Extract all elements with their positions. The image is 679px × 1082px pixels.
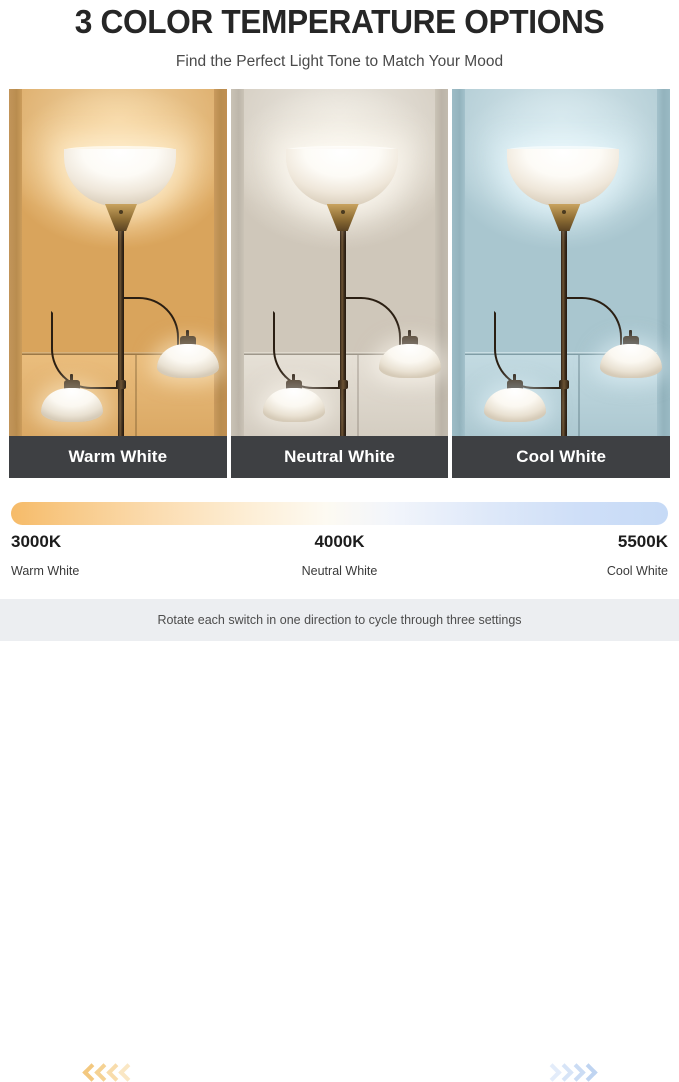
lamp-switch-knob-upper[interactable] [559, 380, 569, 389]
wall-edge-right [214, 89, 227, 477]
panel-label-row: Warm White Neutral White Cool White [9, 436, 670, 478]
warm-direction-arrows [84, 1065, 132, 1082]
reading-lamp-shade-left [41, 388, 103, 422]
lamp-panel-warm-white[interactable] [9, 89, 227, 477]
reading-lamp-shade-left [263, 388, 325, 422]
kelvin-name-row: Warm White Neutral White Cool White [0, 562, 679, 582]
lamp-switch-knob-upper[interactable] [338, 380, 348, 389]
torchiere-screw [341, 210, 345, 214]
room-scene-warm [9, 89, 227, 477]
reading-lamp-arm-left [494, 311, 566, 389]
lamp-panel-neutral-white[interactable] [231, 89, 449, 477]
header: 3 COLOR TEMPERATURE OPTIONS Find the Per… [0, 0, 679, 73]
page-title: 3 COLOR TEMPERATURE OPTIONS [14, 2, 666, 42]
chevron-left-icon [108, 1065, 119, 1082]
color-temperature-gradient-bar [11, 502, 668, 525]
reading-lamp-arm-left [273, 311, 345, 389]
torchiere-screw [119, 210, 123, 214]
footer-note-bar: Rotate each switch in one direction to c… [0, 599, 679, 641]
kelvin-value-neutral: 4000K [0, 531, 679, 553]
kelvin-name-neutral: Neutral White [0, 562, 679, 580]
wall-edge-right [657, 89, 670, 477]
lamp-pole [561, 211, 567, 470]
chevron-left-icon [96, 1065, 107, 1082]
lamp-pole [340, 211, 346, 470]
lamp-panel-row [9, 89, 670, 477]
footer-note-text: Rotate each switch in one direction to c… [157, 613, 521, 627]
reading-lamp-arm-left [51, 311, 123, 389]
lamp-pole [118, 211, 124, 470]
panel-label-warm-white: Warm White [9, 436, 227, 478]
panel-label-cool-white: Cool White [452, 436, 670, 478]
wall-edge-left [231, 89, 244, 477]
kelvin-value-row: 3000K 4000K 5500K [0, 531, 679, 557]
wall-edge-right [435, 89, 448, 477]
chevron-left-icon [120, 1065, 131, 1082]
reading-lamp-shade-right [379, 344, 441, 378]
panel-label-neutral-white: Neutral White [231, 436, 449, 478]
lamp-panel-cool-white[interactable] [452, 89, 670, 477]
chevron-left-icon [84, 1065, 95, 1082]
reading-lamp-shade-right [157, 344, 219, 378]
room-scene-cool [452, 89, 670, 477]
chevron-right-icon [583, 1065, 594, 1082]
kelvin-name-cool: Cool White [607, 562, 668, 580]
reading-lamp-shade-right [600, 344, 662, 378]
cool-direction-arrows [547, 1065, 595, 1082]
kelvin-value-cool: 5500K [618, 531, 668, 553]
lamp-switch-knob-upper[interactable] [116, 380, 126, 389]
wall-edge-left [452, 89, 465, 477]
room-scene-neutral [231, 89, 449, 477]
wall-edge-left [9, 89, 22, 477]
page-subtitle: Find the Perfect Light Tone to Match You… [0, 51, 679, 73]
